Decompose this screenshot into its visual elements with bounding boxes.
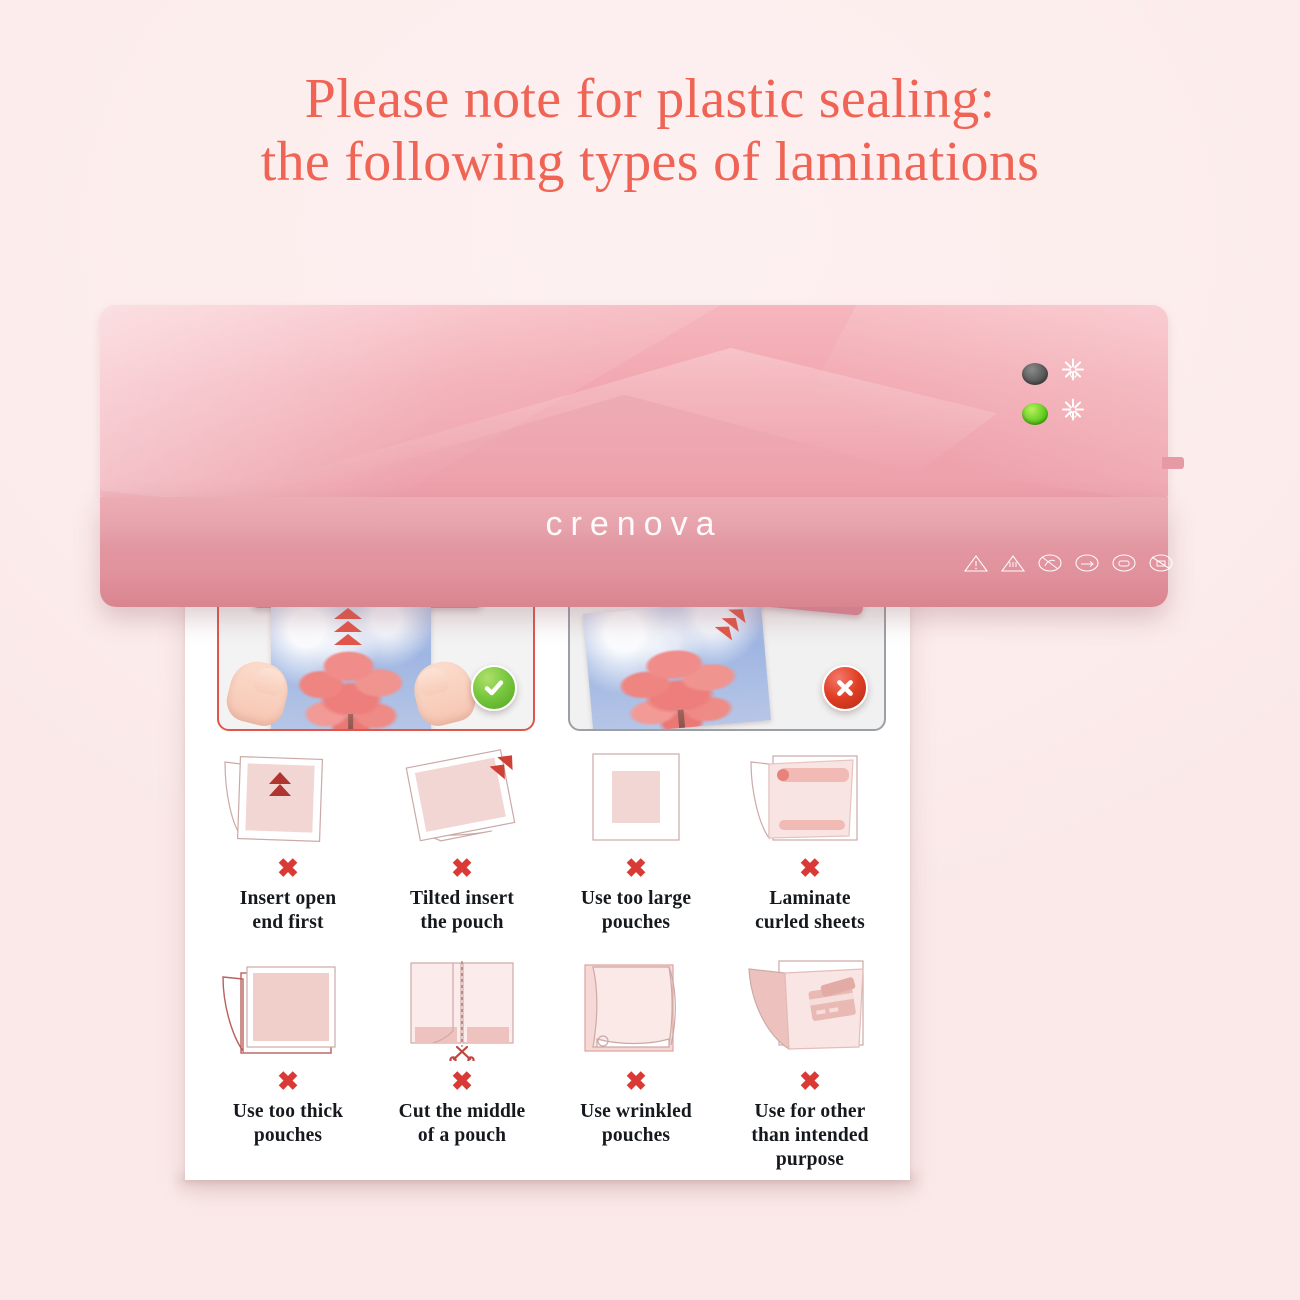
no-insert-icon [1074, 553, 1100, 573]
warning-caption: Laminatecurled sheets [723, 887, 897, 935]
headline-line-1: Please note for plastic sealing: [0, 68, 1300, 131]
x-mark: ✖ [375, 1068, 549, 1094]
credit-card-pouch-icon [723, 953, 897, 1061]
x-mark: ✖ [375, 855, 549, 881]
ready-indicator-row [1022, 403, 1118, 425]
machine-side-port [1162, 457, 1184, 469]
warning-triangle-icon [963, 553, 989, 573]
power-led[interactable] [1022, 363, 1048, 385]
page-title: Please note for plastic sealing: the fol… [0, 68, 1300, 195]
warning-item-tilted-insert: ✖ Tilted insertthe pouch [375, 740, 549, 935]
tilted-insert-icon [375, 740, 549, 848]
warning-caption: Cut the middleof a pouch [375, 1100, 549, 1148]
warning-caption: Use wrinkledpouches [549, 1100, 723, 1148]
starburst-icon [1062, 403, 1084, 425]
x-badge [822, 665, 868, 711]
laminator-machine: crenova [100, 305, 1190, 615]
warning-item-cut-pouch: ✖ Cut the middleof a pouch [375, 953, 549, 1148]
x-mark: ✖ [549, 855, 723, 881]
warning-caption: Tilted insertthe pouch [375, 887, 549, 935]
no-metal-icon [1148, 553, 1174, 573]
tree-illustration [289, 646, 414, 731]
insert-open-end-icon [201, 740, 375, 848]
indicator-lights [1022, 363, 1118, 443]
warning-grid: ✖ Insert openend first [201, 740, 895, 1170]
brand-logo: crenova [100, 505, 1168, 544]
warning-item-insert-open-end: ✖ Insert openend first [201, 740, 375, 935]
x-mark: ✖ [723, 855, 897, 881]
x-mark: ✖ [201, 855, 375, 881]
warning-item-wrinkled-pouch: ✖ Use wrinkledpouches [549, 953, 723, 1148]
safety-icon-row [963, 553, 1174, 573]
thick-pouch-icon [201, 953, 375, 1061]
chevron-icon [334, 634, 362, 645]
warning-caption: Use for otherthan intendedpurpose [723, 1100, 897, 1171]
headline-line-2: the following types of laminations [0, 131, 1300, 194]
hot-surface-triangle-icon [1000, 553, 1026, 573]
warning-item-curled-sheet: ✖ Laminatecurled sheets [723, 740, 897, 935]
no-hands-icon [1037, 553, 1063, 573]
warning-item-other-purpose: ✖ Use for otherthan intendedpurpose [723, 953, 897, 1171]
machine-top-cover [100, 305, 1168, 500]
x-mark: ✖ [201, 1068, 375, 1094]
wrinkled-pouch-icon [549, 953, 723, 1061]
x-mark: ✖ [723, 1068, 897, 1094]
infographic-stage: Please note for plastic sealing: the fol… [0, 0, 1300, 1300]
tree-trunk [349, 714, 354, 731]
curled-sheet-icon [723, 740, 897, 848]
warning-item-oversize-pouch: ✖ Use too largepouches [549, 740, 723, 935]
chevron-icon [334, 621, 362, 632]
warning-caption: Use too largepouches [549, 887, 723, 935]
tree-illustration [606, 639, 752, 731]
sun-icon [1062, 363, 1084, 385]
instruction-sheet: crenova [185, 540, 910, 1180]
tree-trunk [678, 710, 686, 731]
x-mark: ✖ [549, 1068, 723, 1094]
ready-led[interactable] [1022, 403, 1048, 425]
power-indicator-row [1022, 363, 1118, 385]
warning-caption: Use too thickpouches [201, 1100, 375, 1148]
oversize-pouch-icon [549, 740, 723, 848]
no-liquid-icon [1111, 553, 1137, 573]
warning-item-thick-pouch: ✖ Use too thickpouches [201, 953, 375, 1148]
cut-pouch-scissors-icon [375, 953, 549, 1061]
warning-caption: Insert openend first [201, 887, 375, 935]
check-badge [471, 665, 517, 711]
